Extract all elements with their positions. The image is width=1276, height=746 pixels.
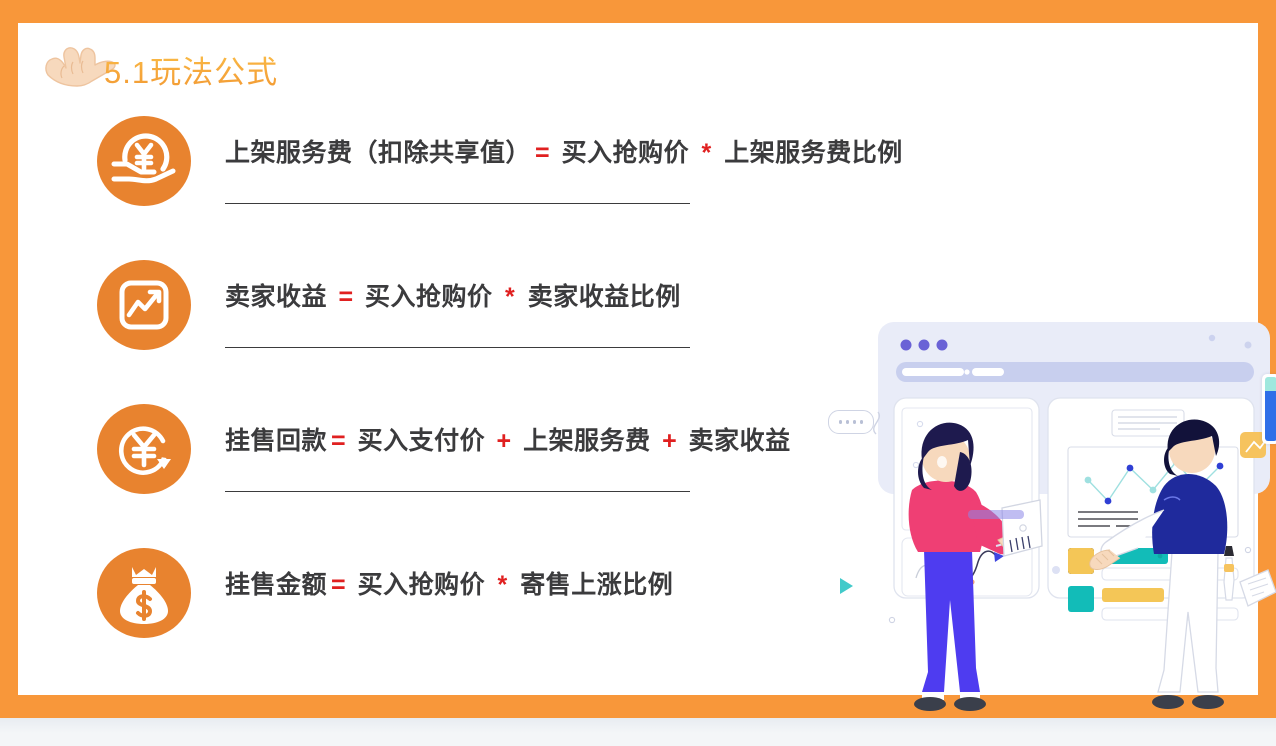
formula-op2: *	[698, 139, 716, 167]
formula-operand2: 卖家收益比例	[527, 283, 682, 311]
vertical-slider-control[interactable]	[1262, 374, 1276, 444]
chat-bubble-icon	[828, 410, 874, 434]
play-triangle-icon	[840, 578, 853, 594]
row-divider	[225, 491, 690, 492]
formula-operand2: 上架服务费	[522, 427, 652, 455]
slide-root: 5.1玩法公式	[0, 0, 1276, 746]
formula-expression: 挂售金额= 买入抢购价 * 寄售上涨比例	[224, 565, 674, 601]
refund-yen-circular-arrow-icon	[94, 401, 194, 497]
hand-holding-yen-coin-icon	[94, 113, 194, 209]
formula-expression: 卖家收益 = 买入抢购价 * 卖家收益比例	[224, 277, 682, 313]
formula-op3: +	[659, 427, 680, 455]
formula-expression: 挂售回款= 买入支付价 + 上架服务费 + 卖家收益	[224, 421, 792, 457]
formula-left: 挂售回款	[224, 427, 328, 455]
formula-op2: *	[494, 571, 512, 599]
formula-op1: =	[328, 427, 349, 455]
bottom-band	[0, 718, 1276, 746]
formula-operand1: 买入抢购价	[364, 283, 494, 311]
formula-operand1: 买入支付价	[357, 427, 487, 455]
row-divider	[225, 203, 690, 204]
money-bag-dollar-icon	[94, 545, 194, 641]
formula-op2: +	[494, 427, 515, 455]
formula-operand3: 卖家收益	[688, 427, 792, 455]
formula-op2: *	[501, 283, 519, 311]
formula-operand2: 上架服务费比例	[723, 139, 904, 167]
formula-left: 上架服务费（扣除共享值）	[224, 139, 532, 167]
dot	[853, 420, 856, 423]
dot	[860, 420, 863, 423]
formula-operand1: 买入抢购价	[357, 571, 487, 599]
formula-left: 挂售金额	[224, 571, 328, 599]
slider-track-bottom	[1265, 391, 1276, 441]
formula-op1: =	[335, 283, 356, 311]
row-divider	[225, 347, 690, 348]
slider-track-top	[1265, 377, 1276, 391]
formula-expression: 上架服务费（扣除共享值）= 买入抢购价 * 上架服务费比例	[224, 133, 904, 169]
formula-op1: =	[532, 139, 553, 167]
dot	[839, 420, 842, 423]
formula-operand1: 买入抢购价	[561, 139, 691, 167]
dot	[846, 420, 849, 423]
formula-left: 卖家收益	[224, 283, 328, 311]
formula-operand2: 寄售上涨比例	[519, 571, 674, 599]
trending-up-chart-icon	[94, 257, 194, 353]
formula-op1: =	[328, 571, 349, 599]
two-people-dashboard-illustration	[820, 300, 1276, 720]
